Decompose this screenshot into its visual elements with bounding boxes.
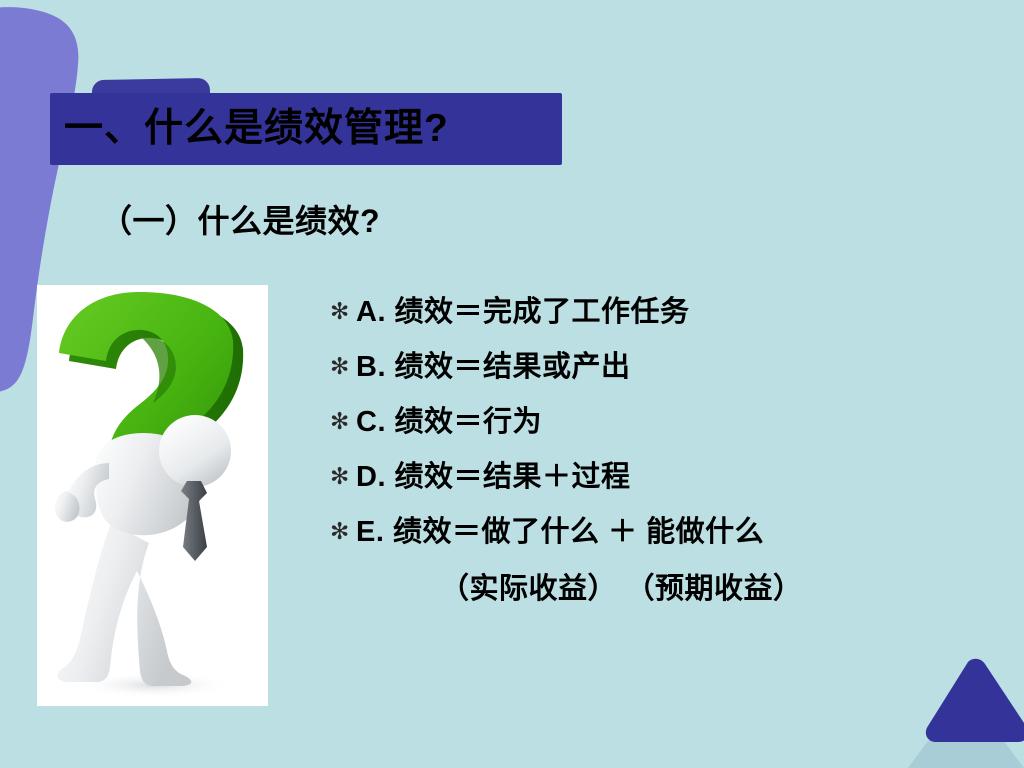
- asterisk-bullet-icon: ✻: [330, 453, 356, 499]
- asterisk-bullet-icon: ✻: [330, 343, 356, 389]
- list-item-label: A. 绩效＝完成了工作任务: [356, 288, 690, 336]
- bullet-list: ✻ A. 绩效＝完成了工作任务 ✻ B. 绩效＝结果或产出 ✻ C. 绩效＝行为…: [330, 288, 990, 607]
- figure-head: [159, 415, 231, 487]
- list-item-label: B. 绩效＝结果或产出: [356, 343, 631, 391]
- triangle-shadow-shape: [908, 690, 1024, 768]
- list-item: ✻ B. 绩效＝结果或产出: [330, 343, 990, 398]
- asterisk-bullet-icon: ✻: [330, 508, 356, 554]
- blue-triangle-shape: [926, 659, 1024, 742]
- list-item-label: D. 绩效＝结果＋过程: [356, 453, 631, 501]
- subtitle: （一）什么是绩效?: [100, 196, 380, 242]
- list-item: ✻ C. 绩效＝行为: [330, 398, 990, 453]
- list-item: ✻ A. 绩效＝完成了工作任务: [330, 288, 990, 343]
- asterisk-bullet-icon: ✻: [330, 288, 356, 334]
- slide-canvas: 一、什么是绩效管理? （一）什么是绩效?: [0, 0, 1024, 768]
- sub-note-label: （实际收益） （预期收益）: [440, 565, 990, 607]
- question-mark-figure-image: [37, 285, 268, 706]
- question-mark-illustration: [37, 285, 268, 706]
- page-title: 一、什么是绩效管理?: [64, 97, 564, 161]
- list-item-label: C. 绩效＝行为: [356, 398, 542, 446]
- list-item: ✻ D. 绩效＝结果＋过程: [330, 453, 990, 508]
- list-item-label: E. 绩效＝做了什么 ＋ 能做什么: [356, 508, 764, 556]
- asterisk-bullet-icon: ✻: [330, 398, 356, 444]
- list-item: ✻ E. 绩效＝做了什么 ＋ 能做什么: [330, 508, 990, 563]
